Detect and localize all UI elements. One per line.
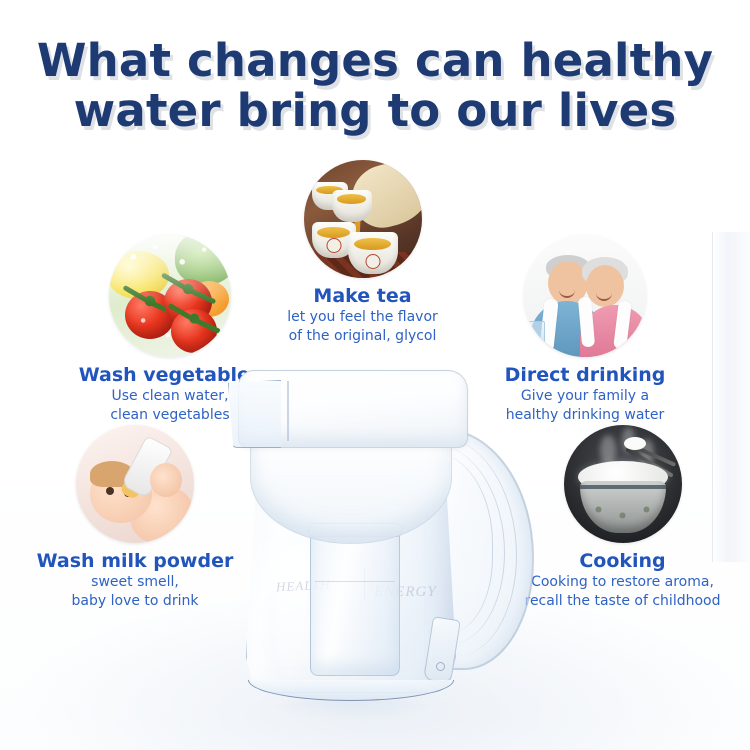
feature-subtext-line-1: let you feel the flavor <box>255 309 470 326</box>
water-filter-pitcher: HEALTH ENERGY <box>228 362 528 710</box>
water-droplets <box>109 235 231 357</box>
feature-subtext-line-2: of the original, glycol <box>255 328 470 345</box>
elderly-couple-photo <box>524 235 646 357</box>
feature-heading: Make tea <box>255 285 470 307</box>
tea-cup <box>332 190 372 222</box>
pitcher-spout <box>228 380 281 448</box>
tea-pouring-into-cups-photo <box>304 160 422 278</box>
water-glass <box>526 321 545 349</box>
baby-arm <box>150 463 182 497</box>
tea-cup <box>348 232 398 274</box>
steaming-rice-bowl-photo <box>564 425 682 543</box>
pitcher-base <box>248 680 454 701</box>
rice-bowl <box>580 481 666 533</box>
title-line-1: What changes can healthy <box>37 34 713 87</box>
page-title: What changes can healthy water bring to … <box>0 36 750 136</box>
filter-cartridge <box>310 528 400 676</box>
baby-with-bottle-photo <box>76 425 194 543</box>
feature-subtext-line-1: Cooking to restore aroma, <box>505 574 740 591</box>
feature-heading: Wash milk powder <box>25 550 245 572</box>
title-line-2: water bring to our lives <box>0 86 750 136</box>
baby-eye <box>106 487 114 495</box>
washing-vegetables-photo <box>109 235 231 357</box>
feature-subtext-line-2: baby love to drink <box>25 593 245 610</box>
man-smile <box>559 289 575 298</box>
feature-subtext-line-1: sweet smell, <box>25 574 245 591</box>
couple-photo-background <box>524 235 646 357</box>
feature-cooking[interactable]: Cooking Cooking to restore aroma, recall… <box>505 425 740 610</box>
baby-photo-background <box>76 425 194 543</box>
lid-seam <box>287 381 289 441</box>
feature-heading: Cooking <box>505 550 740 572</box>
tea-photo-background <box>304 160 422 278</box>
rice-on-chopsticks <box>624 437 646 450</box>
feature-make-tea[interactable]: Make tea let you feel the flavor of the … <box>255 160 470 345</box>
woman-face <box>586 265 624 307</box>
rice-photo-background <box>564 425 682 543</box>
pitcher-highlight <box>276 548 310 668</box>
pitcher-reflection <box>264 698 440 720</box>
thumb-tab-pin <box>436 662 445 671</box>
feature-subtext-line-2: recall the taste of childhood <box>505 593 740 610</box>
feature-wash-milk-powder[interactable]: Wash milk powder sweet smell, baby love … <box>25 425 245 610</box>
vegetables-photo-background <box>109 235 231 357</box>
infographic-poster: What changes can healthy water bring to … <box>0 0 750 750</box>
woman-smile <box>596 292 612 301</box>
